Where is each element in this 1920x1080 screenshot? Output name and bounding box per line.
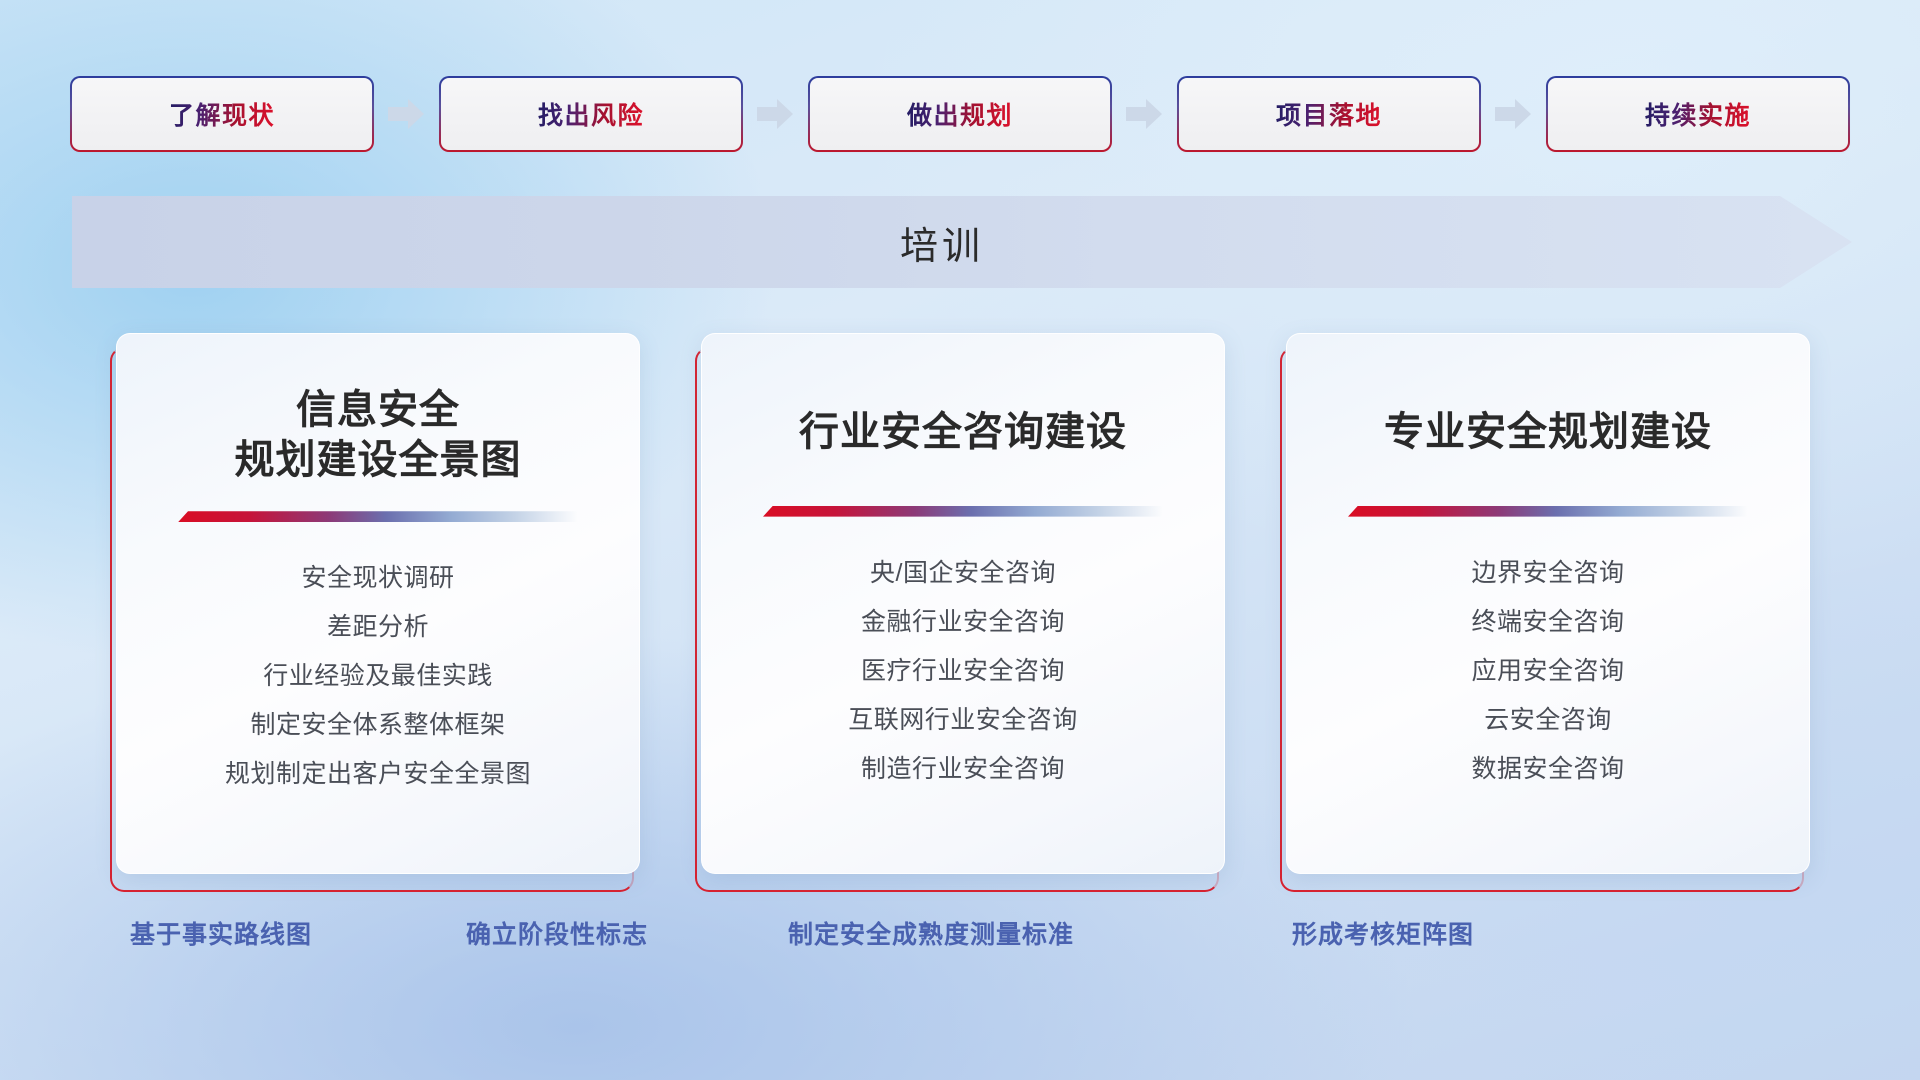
card-list-1: 安全现状调研 差距分析 行业经验及最佳实践 制定安全体系整体框架 规划制定出客户… bbox=[151, 554, 605, 799]
step-box-3[interactable]: 做出规划 bbox=[810, 78, 1110, 150]
list-item: 金融行业安全咨询 bbox=[736, 598, 1190, 647]
list-item: 安全现状调研 bbox=[151, 554, 605, 603]
card-title-3: 专业安全规划建设 bbox=[1384, 408, 1712, 458]
step-label-1: 了解现状 bbox=[169, 96, 275, 132]
step-box-5[interactable]: 持续实施 bbox=[1548, 78, 1848, 150]
card-title-1-line1: 信息安全 bbox=[235, 386, 522, 436]
card-divider-1 bbox=[178, 511, 578, 522]
card-wrap-3: 专业安全规划建设 边界安全咨询 终端安全咨询 应用安全咨询 云安全咨询 数据安全… bbox=[1280, 333, 1810, 878]
process-step-flow: 了解现状 找出风险 做出规划 项目落地 持续实施 bbox=[72, 78, 1848, 150]
bottom-label-3: 制定安全成熟度测量标准 bbox=[788, 915, 1074, 951]
card-title-1: 信息安全 规划建设全景图 bbox=[235, 386, 522, 485]
step-box-1[interactable]: 了解现状 bbox=[72, 78, 372, 150]
bottom-label-4: 形成考核矩阵图 bbox=[1292, 915, 1474, 951]
step-box-2[interactable]: 找出风险 bbox=[441, 78, 741, 150]
step-label-5: 持续实施 bbox=[1645, 96, 1751, 132]
card-divider-2 bbox=[763, 506, 1163, 517]
list-item: 差距分析 bbox=[151, 603, 605, 652]
list-item: 制造行业安全咨询 bbox=[736, 745, 1190, 794]
card-1[interactable]: 信息安全 规划建设全景图 安全现状调研 差距分析 行业经验及最佳实践 制定安全体… bbox=[116, 333, 640, 874]
arrow-right-icon-1 bbox=[388, 99, 426, 129]
step-label-3: 做出规划 bbox=[907, 96, 1013, 132]
bottom-label-row: 基于事实路线图 确立阶段性标志 制定安全成熟度测量标准 形成考核矩阵图 bbox=[0, 915, 1920, 965]
list-item: 央/国企安全咨询 bbox=[736, 549, 1190, 598]
card-wrap-1: 信息安全 规划建设全景图 安全现状调研 差距分析 行业经验及最佳实践 制定安全体… bbox=[110, 333, 640, 878]
card-group: 信息安全 规划建设全景图 安全现状调研 差距分析 行业经验及最佳实践 制定安全体… bbox=[110, 333, 1810, 893]
list-item: 云安全咨询 bbox=[1321, 696, 1775, 745]
list-item: 医疗行业安全咨询 bbox=[736, 647, 1190, 696]
arrow-right-icon-3 bbox=[1126, 99, 1164, 129]
card-list-2: 央/国企安全咨询 金融行业安全咨询 医疗行业安全咨询 互联网行业安全咨询 制造行… bbox=[736, 549, 1190, 794]
arrow-right-icon-4 bbox=[1495, 99, 1533, 129]
card-2[interactable]: 行业安全咨询建设 央/国企安全咨询 金融行业安全咨询 医疗行业安全咨询 互联网行… bbox=[701, 333, 1225, 874]
card-title-2-line1: 行业安全咨询建设 bbox=[799, 408, 1127, 458]
banner-title: 培训 bbox=[900, 215, 984, 270]
list-item: 制定安全体系整体框架 bbox=[151, 701, 605, 750]
list-item: 数据安全咨询 bbox=[1321, 745, 1775, 794]
bottom-label-1: 基于事实路线图 bbox=[130, 915, 312, 951]
list-item: 边界安全咨询 bbox=[1321, 549, 1775, 598]
training-banner: 培训 bbox=[72, 196, 1852, 288]
card-list-3: 边界安全咨询 终端安全咨询 应用安全咨询 云安全咨询 数据安全咨询 bbox=[1321, 549, 1775, 794]
step-label-2: 找出风险 bbox=[538, 96, 644, 132]
bottom-label-2: 确立阶段性标志 bbox=[466, 915, 648, 951]
card-3[interactable]: 专业安全规划建设 边界安全咨询 终端安全咨询 应用安全咨询 云安全咨询 数据安全… bbox=[1286, 333, 1810, 874]
card-title-3-line1: 专业安全规划建设 bbox=[1384, 408, 1712, 458]
list-item: 终端安全咨询 bbox=[1321, 598, 1775, 647]
arrow-right-icon-2 bbox=[757, 99, 795, 129]
list-item: 应用安全咨询 bbox=[1321, 647, 1775, 696]
step-label-4: 项目落地 bbox=[1276, 96, 1382, 132]
list-item: 互联网行业安全咨询 bbox=[736, 696, 1190, 745]
card-title-1-line2: 规划建设全景图 bbox=[235, 436, 522, 486]
card-title-2: 行业安全咨询建设 bbox=[799, 408, 1127, 458]
list-item: 规划制定出客户安全全景图 bbox=[151, 750, 605, 799]
card-divider-3 bbox=[1348, 506, 1748, 517]
card-wrap-2: 行业安全咨询建设 央/国企安全咨询 金融行业安全咨询 医疗行业安全咨询 互联网行… bbox=[695, 333, 1225, 878]
list-item: 行业经验及最佳实践 bbox=[151, 652, 605, 701]
step-box-4[interactable]: 项目落地 bbox=[1179, 78, 1479, 150]
